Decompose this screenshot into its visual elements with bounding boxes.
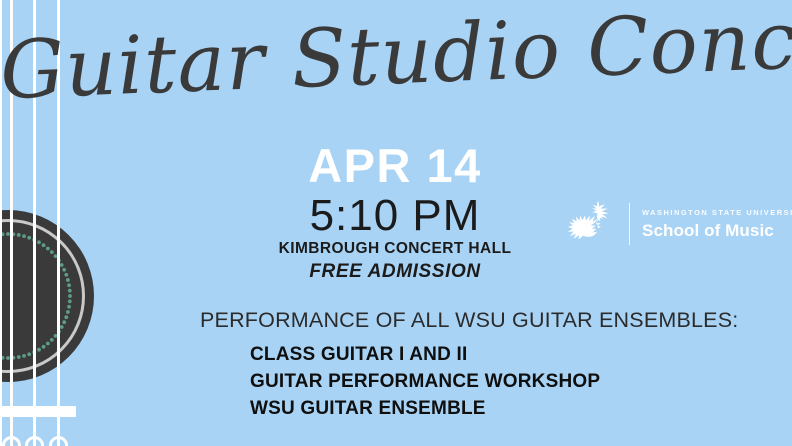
string-ball-end-3	[49, 436, 68, 446]
logo-school-name: School of Music	[642, 222, 792, 239]
soundhole-light-ring	[0, 219, 85, 373]
event-time: 5:10 PM	[240, 193, 550, 239]
soundhole-outer-ring	[0, 210, 94, 382]
ensembles-heading: PERFORMANCE OF ALL WSU GUITAR ENSEMBLES:	[200, 308, 738, 333]
wsu-cougar-head-icon	[563, 196, 619, 252]
soundhole-inner-disc	[0, 226, 78, 366]
event-details-block: APR 14 5:10 PM KIMBROUGH CONCERT HALL FR…	[240, 142, 550, 283]
ensemble-item: WSU GUITAR ENSEMBLE	[250, 396, 738, 423]
event-admission: FREE ADMISSION	[240, 262, 550, 283]
wsu-school-of-music-logo: WASHINGTON STATE UNIVERSITY School of Mu…	[563, 196, 792, 252]
event-venue: KIMBROUGH CONCERT HALL	[240, 240, 550, 257]
logo-divider	[629, 203, 630, 245]
logo-university-name: WASHINGTON STATE UNIVERSITY	[642, 209, 792, 216]
guitar-bridge-bar	[0, 406, 76, 417]
rosette-dot-ring	[0, 210, 94, 382]
ensembles-list: CLASS GUITAR I AND IIGUITAR PERFORMANCE …	[250, 342, 738, 423]
ensembles-section: PERFORMANCE OF ALL WSU GUITAR ENSEMBLES:…	[200, 308, 738, 423]
ensemble-item: CLASS GUITAR I AND II	[250, 342, 738, 369]
page-title: Guitar Studio Concert	[0, 0, 792, 113]
logo-text-block: WASHINGTON STATE UNIVERSITY School of Mu…	[642, 209, 792, 238]
ensemble-item: GUITAR PERFORMANCE WORKSHOP	[250, 369, 738, 396]
guitar-soundhole	[0, 210, 94, 382]
concert-poster: Guitar Studio Concert APR 14 5:10 PM KIM…	[0, 0, 792, 446]
string-ball-end-1	[2, 436, 21, 446]
event-date: APR 14	[240, 142, 550, 189]
string-ball-end-2	[25, 436, 44, 446]
